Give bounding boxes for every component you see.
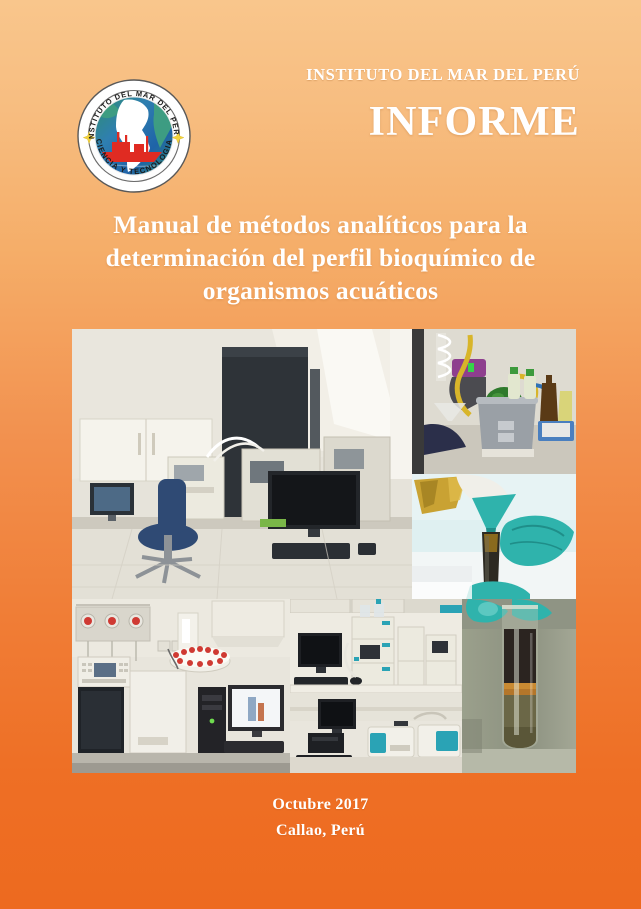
title-line-2: determinación del perfil bioquímico de [50, 241, 591, 274]
photo-tube [462, 599, 576, 773]
report-type-title: INFORME [230, 98, 580, 146]
header-titles: INSTITUTO DEL MAR DEL PERÚ INFORME [230, 66, 580, 146]
publication-date: Octubre 2017 [0, 792, 641, 818]
photo-gc [72, 599, 290, 773]
imarpe-seal-logo: INSTITUTO DEL MAR DEL PERU CIENCIA Y TEC… [76, 78, 192, 194]
title-line-1: Manual de métodos analíticos para la [50, 208, 591, 241]
laboratory-photo-collage [72, 329, 576, 773]
cover-header: INSTITUTO DEL MAR DEL PERU CIENCIA Y TEC… [0, 0, 641, 200]
photo-lab-room [72, 329, 412, 599]
photo-funnel [412, 474, 576, 599]
document-title: Manual de métodos analíticos para la det… [50, 208, 591, 307]
photo-rotovap [412, 329, 576, 474]
cover-footer: Octubre 2017 Callao, Perú [0, 792, 641, 844]
report-cover-page: INSTITUTO DEL MAR DEL PERU CIENCIA Y TEC… [0, 0, 641, 909]
photo-hplc [290, 599, 462, 773]
institution-name: INSTITUTO DEL MAR DEL PERÚ [230, 66, 580, 84]
publication-place: Callao, Perú [0, 818, 641, 844]
title-line-3: organismos acuáticos [50, 274, 591, 307]
